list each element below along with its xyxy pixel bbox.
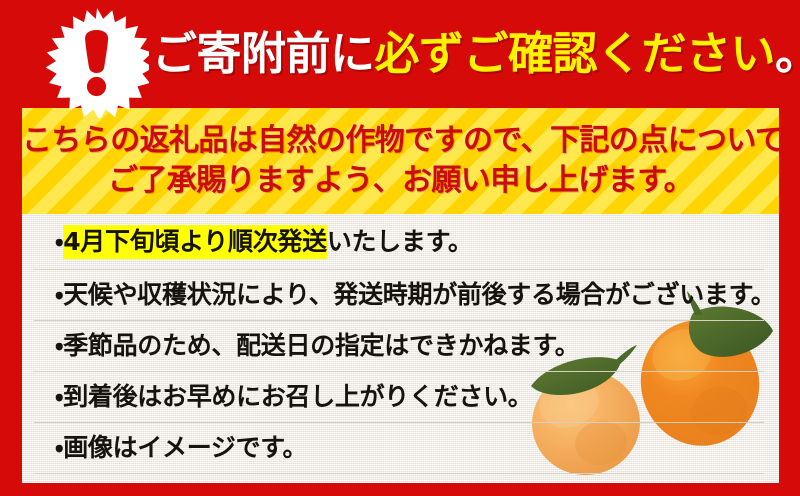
note-bullet: ・ (55, 280, 63, 309)
list-item: ・到着後はお早めにお召し上がりください。 (22, 371, 779, 422)
notes-list: ・4月下旬頃より順次発送いたします。 ・天候や収穫状況により、発送時期が前後する… (22, 214, 779, 473)
note-line: ・季節品のため、配送日の指定はできかねます。 (55, 333, 579, 358)
note-rest: 到着後はお早めにお召し上がりください。 (63, 382, 532, 411)
striped-message-band: こちらの返礼品は自然の作物ですので、下記の点について ご了承賜りますよう、お願い… (22, 108, 779, 214)
list-item: ・画像はイメージです。 (22, 422, 779, 473)
page-title-part-1: ご寄附前に (152, 27, 375, 80)
list-item: ・4月下旬頃より順次発送いたします。 (22, 214, 779, 269)
note-rest: いたします。 (327, 227, 473, 256)
list-item: ・天候や収穫状況により、発送時期が前後する場合がございます。 (22, 269, 779, 320)
notes-panel: ・4月下旬頃より順次発送いたします。 ・天候や収穫状況により、発送時期が前後する… (22, 214, 779, 483)
page-title: ご寄附前に必ずご確認ください。 (152, 22, 792, 86)
striped-message-line-1: こちらの返礼品は自然の作物ですので、下記の点について (22, 121, 779, 161)
note-bullet: ・ (55, 433, 63, 462)
note-highlight: 4月下旬頃より順次発送 (63, 225, 327, 259)
note-rest: 天候や収穫状況により、発送時期が前後する場合がございます。 (63, 280, 775, 309)
striped-message-text: こちらの返礼品は自然の作物ですので、下記の点について ご了承賜りますよう、お願い… (22, 121, 779, 201)
page-title-part-3: 。 (775, 27, 800, 80)
note-bullet: ・ (55, 227, 63, 256)
note-line: ・4月下旬頃より順次発送いたします。 (55, 229, 473, 254)
striped-message-line-2: ご了承賜りますよう、お願い申し上げます。 (22, 161, 779, 201)
note-rest: 季節品のため、配送日の指定はできかねます。 (63, 331, 579, 360)
list-item: ・季節品のため、配送日の指定はできかねます。 (22, 320, 779, 371)
page-title-part-2: 必ずご確認ください (375, 27, 776, 80)
note-line: ・天候や収穫状況により、発送時期が前後する場合がございます。 (55, 282, 776, 307)
notice-banner: ご寄附前に必ずご確認ください。 こちらの返礼品は自然の作物ですので、下記の点につ… (0, 0, 800, 496)
exclamation-starburst-icon (45, 6, 149, 118)
note-bullet: ・ (55, 382, 63, 411)
note-bullet: ・ (55, 331, 63, 360)
note-line: ・画像はイメージです。 (55, 435, 307, 460)
note-line: ・到着後はお早めにお召し上がりください。 (55, 384, 533, 409)
note-rest: 画像はイメージです。 (63, 433, 307, 462)
header-bar: ご寄附前に必ずご確認ください。 (0, 0, 800, 108)
